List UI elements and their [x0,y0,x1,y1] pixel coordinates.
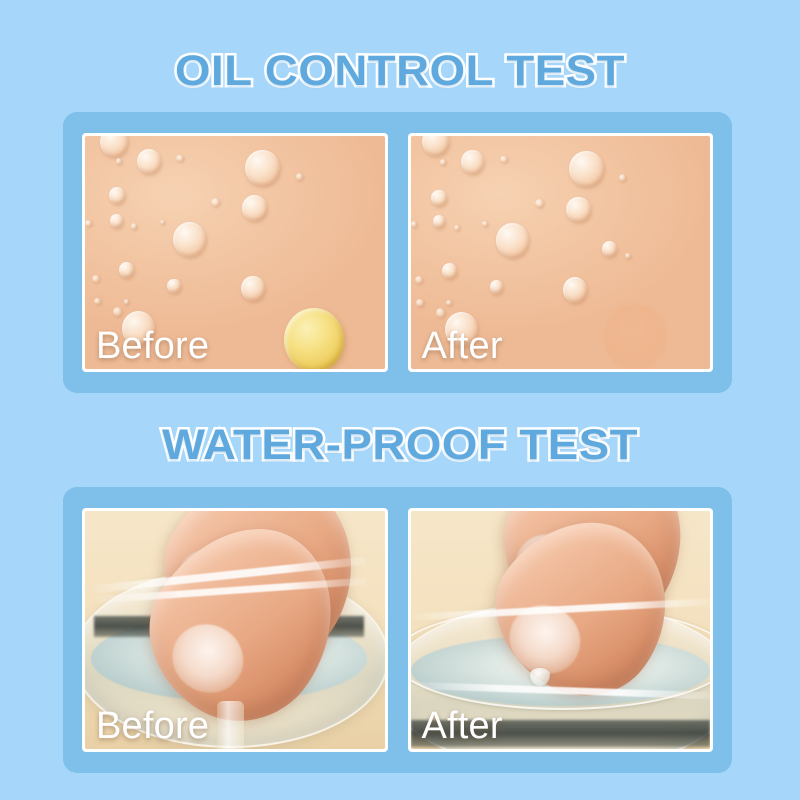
photo-oil-before: Before [85,136,385,369]
water-droplet [461,150,483,174]
water-droplet [242,195,267,221]
water-scene-before: Before [85,511,385,749]
photo-card-oil-before[interactable]: Before [82,133,388,372]
water-droplet [482,221,487,227]
water-droplet [113,307,122,316]
oil-bead-yellow [284,308,344,369]
photo-water-after: After [411,511,711,749]
photo-card-oil-after[interactable]: After [408,133,714,372]
water-droplet [119,262,134,278]
water-droplet [211,198,220,207]
water-droplet [241,276,265,302]
water-droplet [500,156,507,163]
water-droplet [535,199,544,208]
water-droplet [496,223,529,258]
water-droplet [569,151,603,187]
water-droplet [442,263,457,279]
water-droplet [619,174,626,181]
water-droplet [445,312,478,347]
photo-water-before: Before [85,511,385,749]
water-proof-panel: Before After [63,487,732,773]
water-droplet [85,220,92,227]
water-droplet [116,158,122,165]
oil-absorbed-patch [604,304,667,369]
water-droplet [436,308,445,317]
photo-card-water-before[interactable]: Before [82,508,388,752]
water-scene-after: After [411,511,711,749]
water-droplet [167,279,180,293]
bowl-stem [217,701,244,749]
water-droplet [446,300,451,306]
oil-control-panel: Before [63,112,732,393]
water-droplet [415,276,423,284]
section-title-oil-control: OIL CONTROL TEST [0,50,800,93]
water-droplet [411,221,418,228]
water-droplet [122,311,155,346]
water-droplet [440,159,446,166]
photo-card-water-after[interactable]: After [408,508,714,752]
water-droplet [124,299,129,305]
water-droplet [566,197,591,223]
water-droplet [563,277,587,303]
water-droplet [176,155,183,162]
water-droplet [92,275,100,283]
water-droplet [110,214,123,228]
promo-page: OIL CONTROL TEST [0,0,800,800]
water-droplet [296,173,303,180]
water-droplet [416,299,423,306]
section-title-water-proof: WATER-PROOF TEST [0,424,800,467]
photo-oil-after: After [411,136,711,369]
water-shadow-band [411,720,711,746]
water-droplet [454,225,460,232]
water-droplet [245,150,279,186]
